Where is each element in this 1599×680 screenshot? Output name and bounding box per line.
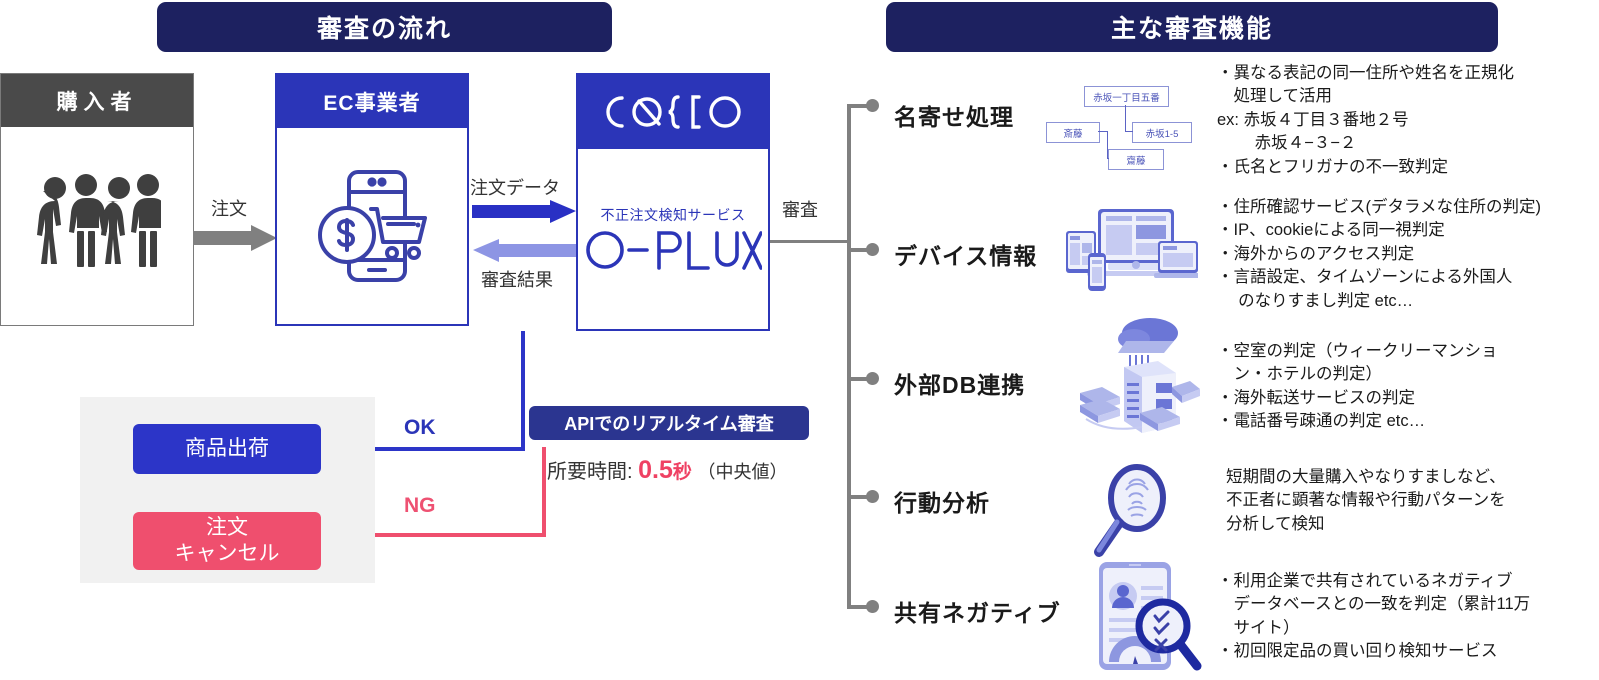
buyer-card: 購入者 bbox=[0, 73, 194, 326]
result-cancel-box: 注文 キャンセル bbox=[133, 512, 321, 570]
feature-desc-2: ・住所確認サービス(デタラメな住所の判定) ・IP、cookieによる同一視判定… bbox=[1217, 196, 1592, 313]
section-title-features-label: 主な審査機能 bbox=[1111, 9, 1273, 45]
label-screening-result: 審査結果 bbox=[481, 266, 553, 292]
feature-desc-1: ・異なる表記の同一住所や姓名を正規化 処理して活用 ex: 赤坂４丁目３番地２号… bbox=[1217, 62, 1587, 179]
api-time-note: （中央値） bbox=[697, 462, 787, 482]
ec-merchant-heading: EC事業者 bbox=[277, 75, 467, 128]
feature-title-4: 行動分析 bbox=[894, 484, 990, 518]
label-order: 注文 bbox=[211, 195, 247, 221]
label-order-data: 注文データ bbox=[470, 174, 560, 200]
smartphone-shopping-cart-icon bbox=[306, 156, 438, 296]
feature-title-2: デバイス情報 bbox=[894, 237, 1037, 271]
feature-desc-4: 短期間の大量購入やなりすましなど、 不正者に顕著な情報や行動パターンを 分析して… bbox=[1226, 466, 1598, 536]
api-realtime-badge-label: APIでのリアルタイム審査 bbox=[564, 410, 773, 436]
section-title-flow: 審査の流れ bbox=[157, 2, 612, 52]
feature-dot-4 bbox=[866, 490, 879, 503]
multi-device-icon bbox=[1062, 205, 1198, 293]
feature-dot-2 bbox=[866, 243, 879, 256]
result-cancel-label-line1: 注文 bbox=[206, 515, 248, 541]
nm-line-v2 bbox=[1107, 131, 1108, 158]
connector-oplux-to-spine bbox=[770, 240, 850, 243]
result-ship-box: 商品出荷 bbox=[133, 424, 321, 474]
feature-desc-5: ・利用企業で共有されているネガティブ データベースとの一致を判定（累計11万 サ… bbox=[1217, 570, 1597, 664]
section-title-flow-label: 審査の流れ bbox=[317, 9, 452, 45]
api-time-prefix: 所要時間: bbox=[547, 461, 633, 483]
nm-box-address-full: 赤坂一丁目五番 bbox=[1084, 86, 1169, 107]
oplux-card: 不正注文検知サービス bbox=[576, 73, 770, 331]
result-cancel-label-line2: キャンセル bbox=[175, 541, 280, 567]
cacco-logo bbox=[603, 90, 743, 134]
feature-title-3: 外部DB連携 bbox=[894, 366, 1025, 400]
feature-dot-3 bbox=[866, 372, 879, 385]
nm-line-v1 bbox=[1125, 105, 1126, 132]
name-matching-tree-icon: 赤坂一丁目五番 斎藤 赤坂1-5 齋藤 bbox=[1046, 86, 1206, 172]
api-time-value: 0.5 bbox=[638, 456, 673, 484]
nm-line-h3 bbox=[1107, 158, 1109, 159]
nm-box-name-b: 齋藤 bbox=[1108, 149, 1164, 170]
arrow-screening-result bbox=[472, 239, 577, 263]
feature-dot-1 bbox=[866, 99, 879, 112]
tablet-profile-magnifier-icon bbox=[1085, 558, 1205, 676]
ok-route-vertical bbox=[521, 331, 525, 447]
magnifier-fingerprint-icon bbox=[1085, 460, 1189, 564]
nm-line-h1 bbox=[1125, 131, 1133, 132]
result-ship-label: 商品出荷 bbox=[185, 436, 269, 462]
buyer-card-body bbox=[1, 127, 193, 326]
ec-merchant-body bbox=[277, 128, 467, 324]
section-title-features: 主な審査機能 bbox=[886, 2, 1498, 52]
feature-title-5: 共有ネガティブ bbox=[894, 594, 1061, 628]
api-time-unit: 秒 bbox=[673, 462, 692, 483]
ng-route-vertical bbox=[542, 447, 546, 537]
oplux-card-body: 不正注文検知サービス bbox=[578, 149, 768, 329]
arrow-order bbox=[193, 225, 279, 251]
feature-spine-vertical bbox=[847, 104, 851, 609]
nm-box-address-short: 赤坂1-5 bbox=[1132, 122, 1192, 143]
ec-merchant-card: EC事業者 bbox=[275, 73, 469, 326]
api-realtime-badge: APIでのリアルタイム審査 bbox=[529, 406, 809, 440]
ng-label: NG bbox=[404, 494, 436, 518]
api-processing-time: 所要時間: 0.5秒 （中央値） bbox=[547, 455, 787, 485]
nm-box-name-a: 斎藤 bbox=[1046, 122, 1100, 143]
oplux-subtitle: 不正注文検知サービス bbox=[601, 205, 746, 225]
ok-label: OK bbox=[404, 416, 436, 440]
feature-desc-3: ・空室の判定（ウィークリーマンショ ン・ホテルの判定） ・海外転送サービスの判定… bbox=[1217, 340, 1589, 434]
cloud-server-database-icon bbox=[1068, 315, 1200, 435]
buyer-card-heading: 購入者 bbox=[1, 74, 193, 127]
label-screening: 審査 bbox=[782, 196, 818, 222]
oplux-card-header bbox=[578, 75, 768, 149]
feature-title-1: 名寄せ処理 bbox=[894, 98, 1014, 132]
people-group-icon bbox=[33, 172, 161, 282]
feature-dot-5 bbox=[866, 600, 879, 613]
oplux-wordmark bbox=[584, 227, 762, 273]
arrow-order-data bbox=[472, 200, 577, 224]
